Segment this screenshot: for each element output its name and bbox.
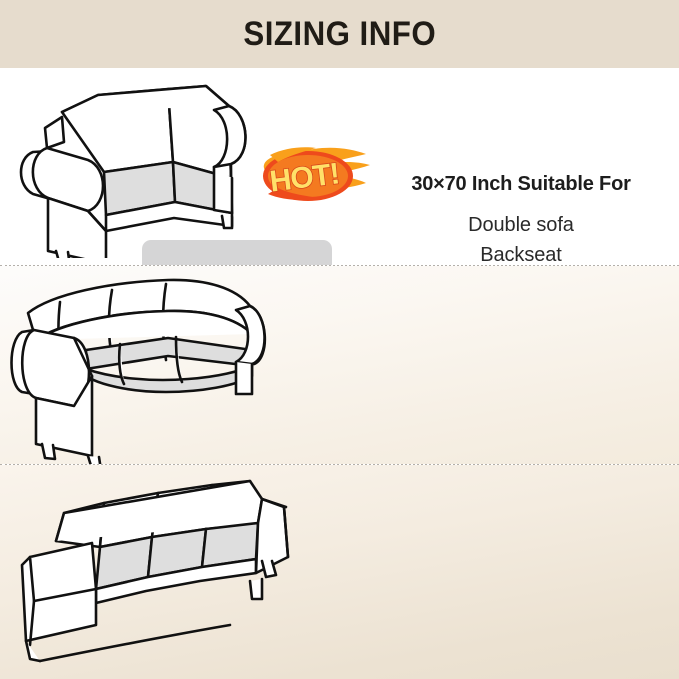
measure-box-30x70 — [142, 240, 332, 265]
list-item: Backseat — [368, 240, 674, 265]
list-item: Double sofa — [368, 210, 674, 240]
page-title: SIZING INFO — [243, 17, 436, 51]
size-section-30x90: 90″ 30″ 30×90 Inch Suitable For Multi-pe… — [0, 465, 679, 679]
size-section-30x70: HOT! 70″ 30″ 30×70 Inch Suitable For Dou… — [0, 68, 679, 265]
two-seat-sofa-illustration — [0, 68, 260, 258]
three-seat-sofa-illustration — [0, 266, 280, 464]
sizing-info-infographic: SIZING INFO — [0, 0, 679, 679]
size-section-30x80: 80″ 30″ 30×80 Inch Suitable For Multi-pe… — [0, 266, 679, 464]
use-list-30x70: Double sofa Backseat Bench seat — [368, 210, 674, 265]
four-seat-sofa-illustration — [0, 465, 310, 679]
size-heading-30x70: 30×70 Inch Suitable For — [368, 172, 674, 196]
hot-badge-icon: HOT! — [256, 146, 378, 210]
size-text-block-30x70: 30×70 Inch Suitable For Double sofa Back… — [368, 172, 674, 265]
header-banner: SIZING INFO — [0, 0, 679, 68]
